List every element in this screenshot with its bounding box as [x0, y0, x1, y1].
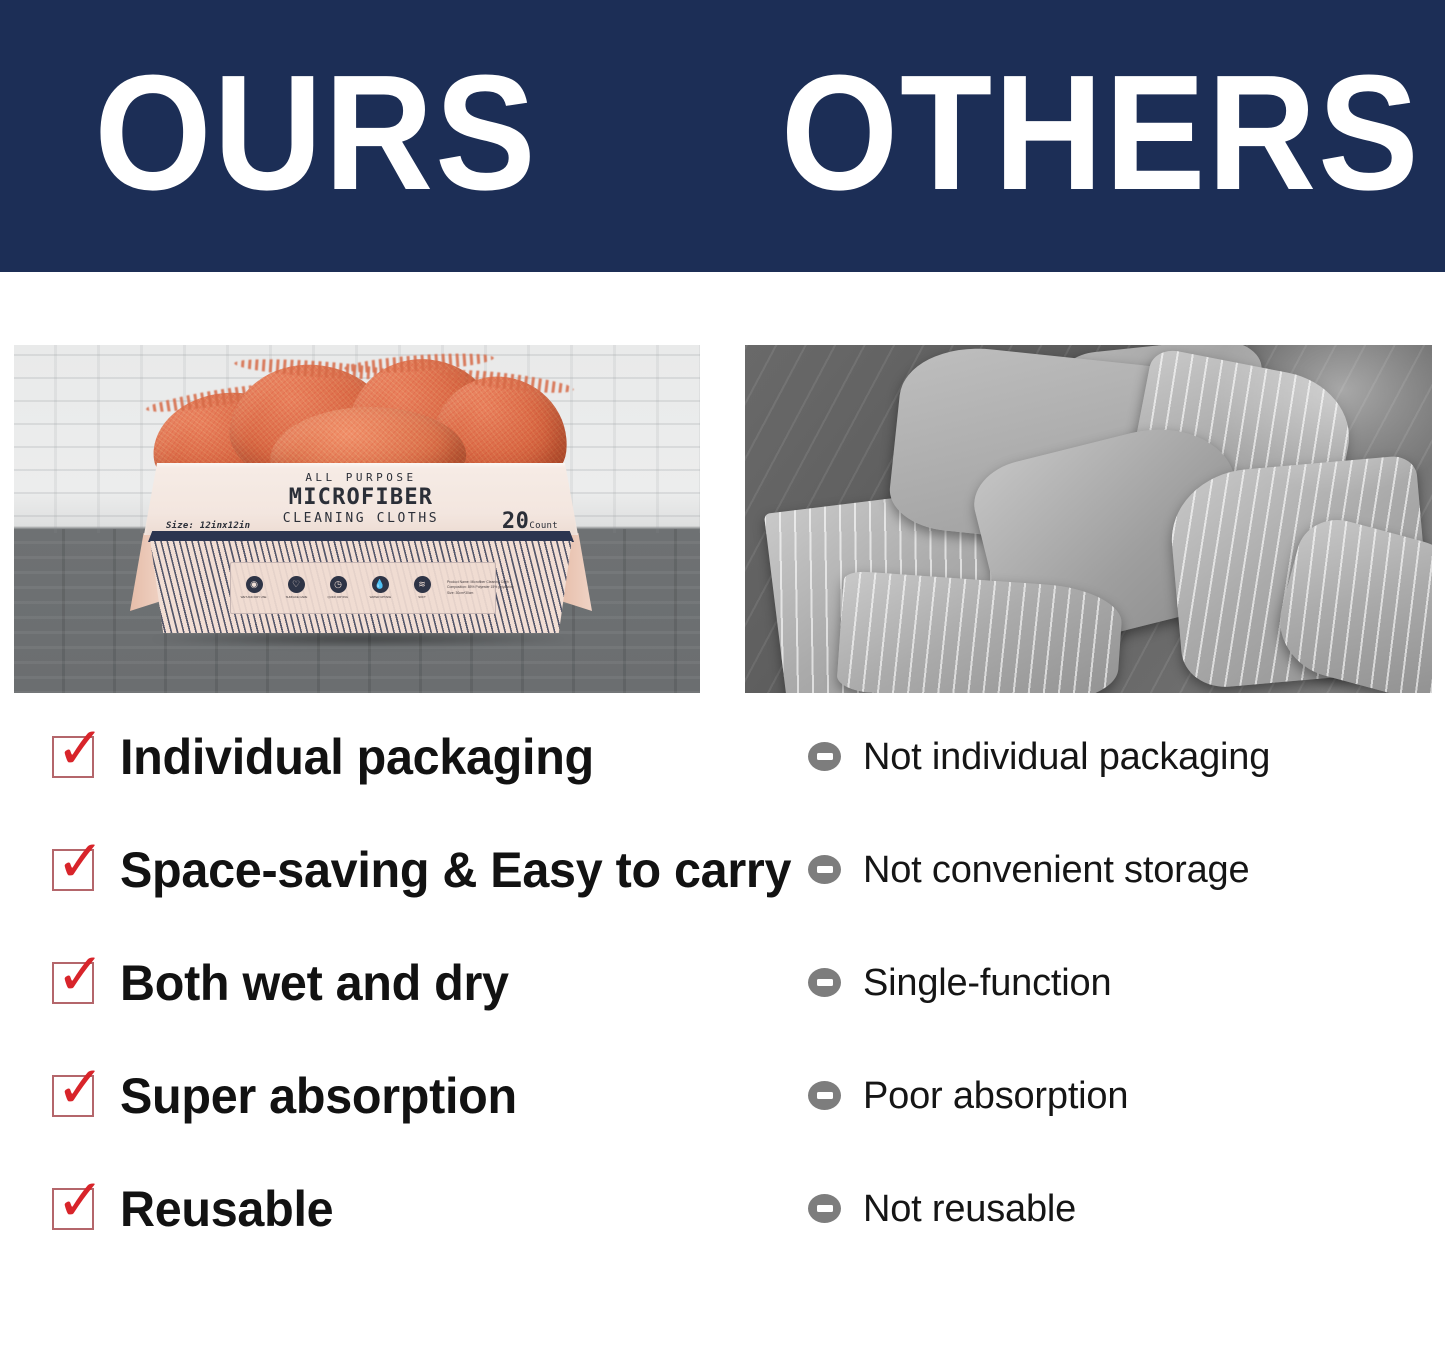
package-count-word: Count: [529, 521, 558, 531]
minus-icon: [808, 1194, 841, 1223]
con-label: Not individual packaging: [863, 738, 1270, 776]
water-drop-icon: 💧: [372, 576, 389, 593]
floor-highlight: [1212, 345, 1432, 495]
package-size-text: Size: 12inx12in: [166, 521, 250, 531]
box-shadow: [152, 631, 572, 647]
minus-icon: [808, 855, 841, 884]
pro-list-item: ✓ Both wet and dry: [52, 926, 742, 1039]
check-icon: ✓: [52, 962, 94, 1004]
check-icon: ✓: [52, 736, 94, 778]
cons-column: Not individual packaging Not convenient …: [808, 700, 1408, 1265]
waves-icon: ≋: [414, 576, 431, 593]
feature-caption: QUICK DRYING: [328, 596, 348, 599]
heart-icon: ♡: [288, 576, 305, 593]
feature-wet-and-dry-use: ◉ WET AND DRY USE: [237, 576, 271, 600]
spec-line: Composition: 85% Polyester 15% polyamide: [447, 585, 514, 590]
comparison-header-banner: OURS OTHERS: [0, 0, 1445, 272]
pro-label: Space-saving & Easy to carry: [120, 845, 791, 895]
feature-caption: WET AND DRY USE: [241, 596, 267, 599]
box-printed-text: ALL PURPOSE MICROFIBER CLEANING CLOTHS S…: [144, 463, 578, 535]
con-list-item: Single-function: [808, 926, 1408, 1039]
package-spec-block: Product Name: Microfiber Cleaning Cloth …: [447, 580, 514, 596]
package-count-number: 20: [502, 509, 530, 534]
con-label: Not convenient storage: [863, 851, 1249, 889]
check-icon: ✓: [52, 1188, 94, 1230]
con-list-item: Not reusable: [808, 1152, 1408, 1265]
box-front-face: ◉ WET AND DRY USE ♡ SURFACE CARE ◷ QUICK…: [146, 541, 576, 633]
pro-list-item: ✓ Space-saving & Easy to carry: [52, 813, 742, 926]
con-label: Poor absorption: [863, 1077, 1128, 1115]
feature-caption: SOFT: [418, 596, 425, 599]
con-list-item: Poor absorption: [808, 1039, 1408, 1152]
minus-icon: [808, 1081, 841, 1110]
package-line-all-purpose: ALL PURPOSE: [144, 471, 578, 484]
package-line-microfiber: MICROFIBER: [144, 485, 578, 510]
product-photo-ours: ALL PURPOSE MICROFIBER CLEANING CLOTHS S…: [14, 345, 700, 693]
con-list-item: Not convenient storage: [808, 813, 1408, 926]
banner-title-ours: OURS: [95, 51, 538, 215]
pro-label: Super absorption: [120, 1071, 517, 1121]
pro-list-item: ✓ Super absorption: [52, 1039, 742, 1152]
pro-list-item: ✓ Reusable: [52, 1152, 742, 1265]
comparison-lists: ✓ Individual packaging ✓ Space-saving & …: [0, 700, 1445, 1345]
con-list-item: Not individual packaging: [808, 700, 1408, 813]
box-spec-label: ◉ WET AND DRY USE ♡ SURFACE CARE ◷ QUICK…: [230, 562, 496, 614]
wet-dry-icon: ◉: [246, 576, 263, 593]
check-icon: ✓: [52, 1075, 94, 1117]
banner-cell-ours: OURS: [0, 0, 723, 272]
feature-quick-drying: ◷ QUICK DRYING: [321, 576, 355, 600]
con-label: Not reusable: [863, 1190, 1076, 1228]
pro-label: Reusable: [120, 1184, 333, 1234]
product-photo-others: [745, 345, 1432, 693]
box-navy-band: [148, 531, 574, 542]
feature-caption: SURFACE CARE: [285, 596, 307, 599]
feature-water-uptake: 💧 WATER UPTAKE: [363, 576, 397, 600]
clock-icon: ◷: [330, 576, 347, 593]
package-feature-icon-row: ◉ WET AND DRY USE ♡ SURFACE CARE ◷ QUICK…: [237, 576, 439, 600]
rag-pile-scene: [745, 345, 1432, 693]
feature-surface-care: ♡ SURFACE CARE: [279, 576, 313, 600]
pro-label: Individual packaging: [120, 732, 594, 782]
minus-icon: [808, 968, 841, 997]
pro-label: Both wet and dry: [120, 958, 509, 1008]
banner-title-others: OTHERS: [780, 51, 1420, 215]
banner-cell-others: OTHERS: [723, 0, 1445, 272]
pro-list-item: ✓ Individual packaging: [52, 700, 742, 813]
package-count: 20Count: [502, 509, 558, 534]
con-label: Single-function: [863, 964, 1111, 1002]
feature-caption: WATER UPTAKE: [369, 596, 391, 599]
feature-soft: ≋ SOFT: [405, 576, 439, 600]
spec-line: Size: 30cm*30cm: [447, 591, 514, 596]
microfiber-package-box: ALL PURPOSE MICROFIBER CLEANING CLOTHS S…: [126, 463, 596, 661]
minus-icon: [808, 742, 841, 771]
check-icon: ✓: [52, 849, 94, 891]
pros-column: ✓ Individual packaging ✓ Space-saving & …: [52, 700, 742, 1265]
photo-row: ALL PURPOSE MICROFIBER CLEANING CLOTHS S…: [0, 272, 1445, 712]
